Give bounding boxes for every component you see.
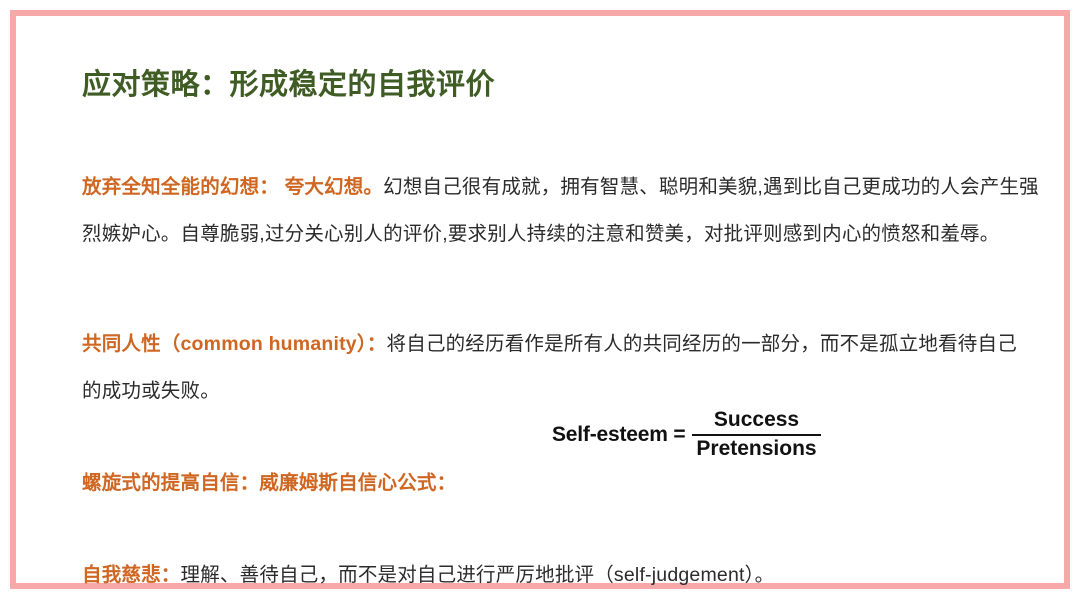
- section-paragraph-4: 自我慈悲：理解、善待自己，而不是对自己进行严厉地批评（self-judgemen…: [82, 552, 1022, 599]
- slide-root: 应对策略：形成稳定的自我评价 放弃全知全能的幻想： 夸大幻想。幻想自己很有成就，…: [0, 0, 1080, 599]
- section-lead-2: 共同人性（common humanity）：: [82, 333, 387, 355]
- section-paragraph-2: 共同人性（common humanity）：将自己的经历看作是所有人的共同经历的…: [82, 321, 1022, 415]
- section-lead-3: 螺旋式的提高自信：威廉姆斯自信心公式：: [82, 472, 456, 494]
- section-lead-1: 放弃全知全能的幻想： 夸大幻想。: [82, 176, 383, 198]
- formula-fraction: Success Pretensions: [692, 408, 820, 462]
- self-esteem-formula: Self-esteem = Success Pretensions: [552, 408, 821, 462]
- slide-content: 应对策略：形成稳定的自我评价 放弃全知全能的幻想： 夸大幻想。幻想自己很有成就，…: [82, 68, 1052, 568]
- section-lead-4: 自我慈悲：: [82, 564, 181, 586]
- formula-numerator: Success: [708, 408, 805, 434]
- section-paragraph-3: 螺旋式的提高自信：威廉姆斯自信心公式：: [82, 460, 1022, 507]
- slide-border-frame: 应对策略：形成稳定的自我评价 放弃全知全能的幻想： 夸大幻想。幻想自己很有成就，…: [10, 10, 1070, 589]
- section-paragraph-1: 放弃全知全能的幻想： 夸大幻想。幻想自己很有成就，拥有智慧、聪明和美貌,遇到比自…: [82, 164, 1052, 258]
- page-title: 应对策略：形成稳定的自我评价: [82, 68, 1052, 103]
- formula-denominator: Pretensions: [692, 436, 820, 462]
- formula-left-side: Self-esteem =: [552, 423, 692, 447]
- section-body-4: 理解、善待自己，而不是对自己进行严厉地批评（self-judgement）。: [181, 564, 775, 586]
